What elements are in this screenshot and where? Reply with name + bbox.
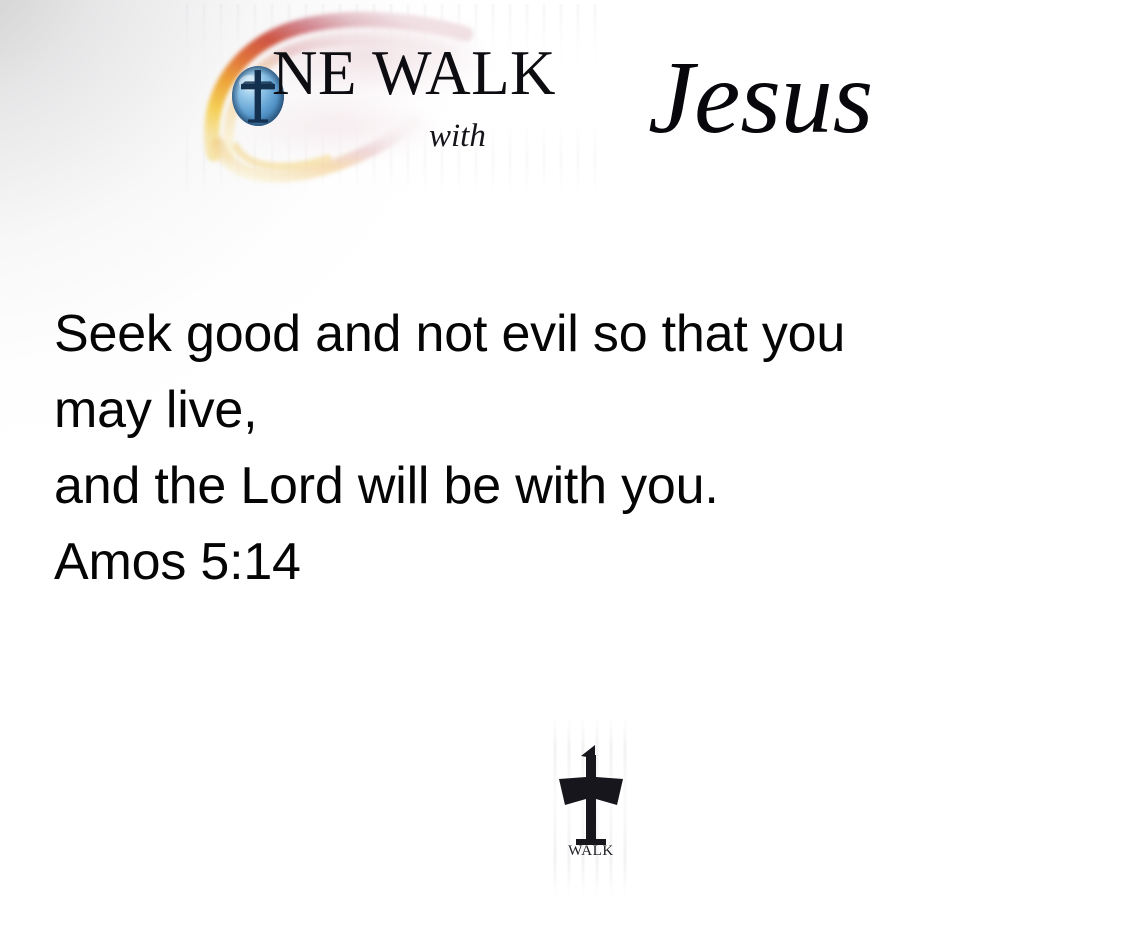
logo-one-walk-text: ONE WALK bbox=[226, 42, 556, 105]
logo-wordmark: ONE WALK with Jesus bbox=[226, 42, 946, 182]
logo-with-text: with bbox=[429, 120, 486, 153]
page-canvas: ONE WALK with Jesus Seek good and not ev… bbox=[0, 0, 1123, 929]
verse-reference: Amos 5:14 bbox=[54, 524, 1084, 600]
footer-walk-label: WALK bbox=[521, 843, 661, 860]
logo-one-walk-rest: NE WALK bbox=[272, 38, 556, 108]
verse-line-1: Seek good and not evil so that you bbox=[54, 296, 1084, 372]
one-walk-cross-icon bbox=[543, 735, 639, 857]
verse-block: Seek good and not evil so that you may l… bbox=[54, 296, 1084, 600]
verse-line-3: and the Lord will be with you. bbox=[54, 448, 1084, 524]
verse-line-2: may live, bbox=[54, 372, 1084, 448]
brand-logo: ONE WALK with Jesus bbox=[178, 4, 938, 194]
footer-mark: WALK bbox=[521, 735, 661, 880]
logo-jesus-text: Jesus bbox=[648, 46, 873, 150]
